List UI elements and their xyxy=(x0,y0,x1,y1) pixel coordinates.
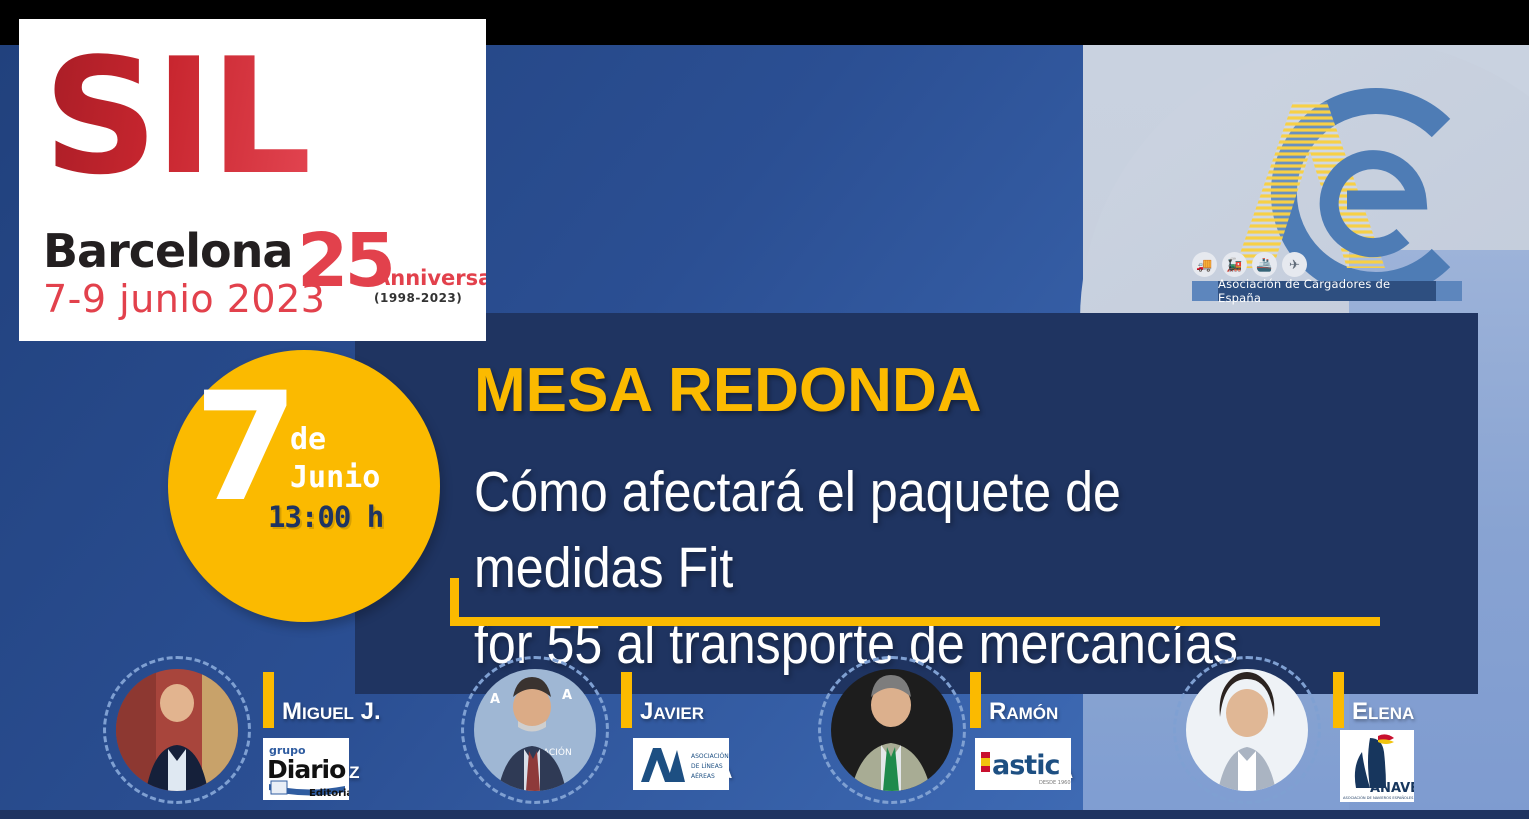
bottom-dark-band xyxy=(0,810,1529,819)
speaker-card: Elena Seco ANAVE ASOCIACIÓN DE NAVIEROS … xyxy=(1155,650,1505,810)
sil-dates: 7-9 junio 2023 xyxy=(43,277,325,321)
sil-anniversary-word: Anniversary xyxy=(374,266,486,290)
aec-label-left-block xyxy=(1192,281,1218,301)
date-de-label: de xyxy=(290,422,326,457)
truck-icon: 🚚 xyxy=(1192,252,1217,277)
svg-text:astic: astic xyxy=(992,750,1059,781)
ala-logo: ASOCIACIÓN DE LÍNEAS AÉREAS xyxy=(633,738,729,790)
anave-logo: ANAVE ASOCIACIÓN DE NAVIEROS ESPAÑOLES xyxy=(1340,730,1414,802)
aec-logo-label: Asociación de Cargadores de España xyxy=(1192,281,1462,301)
event-promo-banner: 🚚 🚂 🚢 ✈ Asociación de Cargadores de Espa… xyxy=(0,0,1529,819)
svg-text:A: A xyxy=(490,692,500,707)
train-icon: 🚂 xyxy=(1222,252,1247,277)
svg-text:ASOCIACIÓN: ASOCIACIÓN xyxy=(691,753,729,760)
svg-text:Diario: Diario xyxy=(267,755,346,784)
aec-label-right-block xyxy=(1436,281,1462,301)
svg-text:Editorial: Editorial xyxy=(309,788,349,799)
avatar-photo xyxy=(1186,669,1308,791)
date-badge: 7 de Junio 13:00 h xyxy=(168,350,440,622)
grupo-diario-editorial-logo: grupo Diario Editorial xyxy=(263,738,349,800)
avatar-photo xyxy=(116,669,238,791)
avatar-photo xyxy=(831,669,953,791)
svg-text:A: A xyxy=(562,688,572,703)
astic-logo: astic DESDE 1960 xyxy=(975,738,1071,790)
speaker-card: Miguel J. Jiménez grupo Diario Editorial xyxy=(85,650,435,810)
avatar: A A CIACIÓN xyxy=(461,656,609,804)
speaker-accent-bar xyxy=(621,672,632,728)
title-underline-bracket xyxy=(450,578,1380,626)
sil-anniversary-years: (1998-2023) xyxy=(374,291,462,305)
aec-full-name: Asociación de Cargadores de España xyxy=(1218,281,1436,301)
avatar xyxy=(818,656,966,804)
aec-transport-icons: 🚚 🚂 🚢 ✈ xyxy=(1192,252,1307,277)
avatar xyxy=(1173,656,1321,804)
date-month: Junio xyxy=(290,460,380,495)
session-title: Cómo afectará el paquete de medidas Fit … xyxy=(474,455,1292,682)
speaker-name-line-1: Miguel J. xyxy=(282,697,381,726)
bracket-horizontal xyxy=(450,617,1380,626)
svg-text:ASOCIACIÓN DE NAVIEROS ESPAÑOL: ASOCIACIÓN DE NAVIEROS ESPAÑOLES xyxy=(1343,795,1414,800)
speaker-accent-bar xyxy=(263,672,274,728)
speaker-accent-bar xyxy=(970,672,981,728)
speaker-card: A A CIACIÓN Javier Gándara xyxy=(443,650,793,810)
speaker-accent-bar xyxy=(1333,672,1344,728)
avatar xyxy=(103,656,251,804)
speaker-card: Ramón Valdivia astic DESDE 1960 xyxy=(800,650,1150,810)
ship-icon: 🚢 xyxy=(1252,252,1277,277)
speaker-name-line-1: Elena xyxy=(1352,697,1414,726)
svg-text:DESDE 1960: DESDE 1960 xyxy=(1039,780,1071,786)
svg-text:DE LÍNEAS: DE LÍNEAS xyxy=(691,763,723,770)
date-time: 13:00 h xyxy=(268,500,383,534)
speakers-strip: Miguel J. Jiménez grupo Diario Editorial xyxy=(0,650,1529,810)
speaker-name-line-1: Ramón xyxy=(989,697,1073,726)
speaker-name-line-1: Javier xyxy=(640,697,732,726)
sil-city: Barcelona xyxy=(43,224,292,278)
session-kicker: MESA REDONDA xyxy=(474,355,982,426)
date-day: 7 xyxy=(194,388,298,508)
svg-text:AÉREAS: AÉREAS xyxy=(691,772,715,780)
avatar-photo: A A CIACIÓN xyxy=(474,669,596,791)
sil-logo-card: SIL Barcelona 7-9 junio 2023 25 Annivers… xyxy=(19,19,486,341)
sil-wordmark: SIL xyxy=(43,41,308,193)
svg-text:ANAVE: ANAVE xyxy=(1370,781,1414,796)
plane-icon: ✈ xyxy=(1282,252,1307,277)
